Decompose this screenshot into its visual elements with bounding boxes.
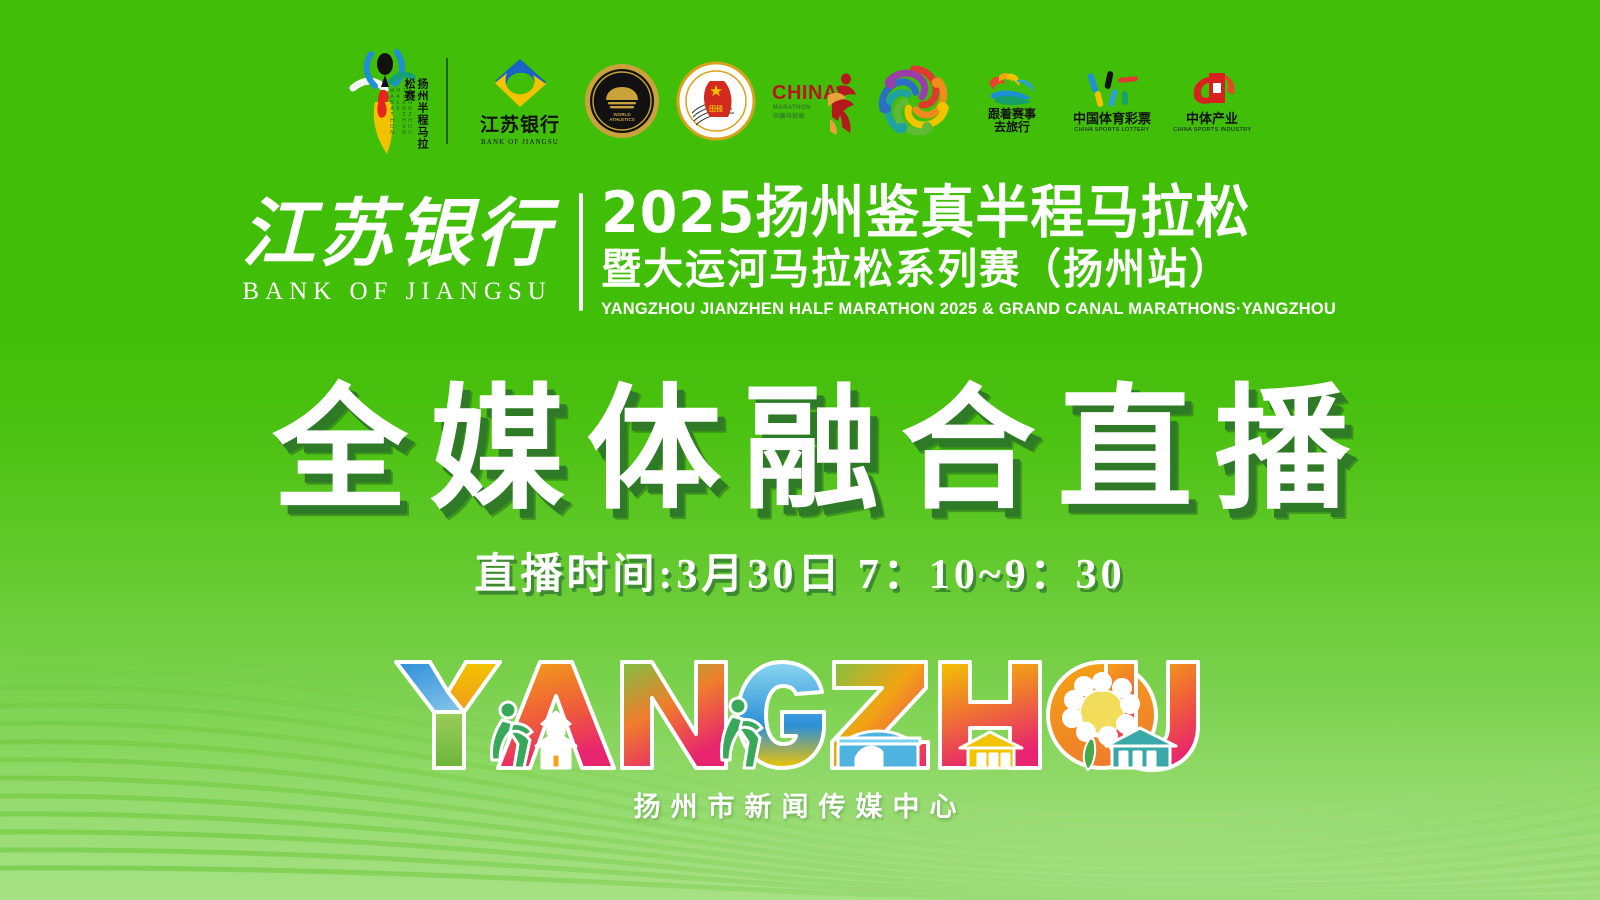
bank-title-en: BANK OF JIANGSU bbox=[242, 278, 551, 306]
livestream-poster: 扬州半程马拉松赛 YANGZHOU JIANZHEN HALF MARATHON… bbox=[0, 0, 1600, 900]
colorful-people-circle-logo bbox=[866, 61, 962, 141]
event-title-line1: 2025扬州鉴真半程马拉松 bbox=[601, 184, 1359, 244]
svg-text:田径: 田径 bbox=[709, 104, 723, 113]
lottery-cn: 中国体育彩票 bbox=[1073, 112, 1151, 126]
travel-with-events-logo: 跟着赛事 去旅行 bbox=[969, 68, 1055, 134]
broadcast-time-text: 直播时间:3月30日 7：10~9：30 bbox=[0, 540, 1600, 601]
svg-text:MARATHON: MARATHON bbox=[773, 105, 811, 111]
event-title-block: 2025扬州鉴真半程马拉松 暨大运河马拉松系列赛（扬州站） YANGZHOU J… bbox=[601, 185, 1359, 318]
china-sports-industry-logo: 中体产业 CHINA SPORTS INDUSTRY bbox=[1169, 69, 1255, 134]
bank-of-jiangsu-small-logo: 江苏银行 BANK OF JIANGSU bbox=[464, 45, 576, 157]
bank-of-jiangsu-title-logo: 江苏银行 BANK OF JIANGSU bbox=[241, 198, 579, 306]
event-logo-cn-text: 扬州半程马拉松赛 bbox=[414, 78, 428, 160]
industry-en: CHINA SPORTS INDUSTRY bbox=[1173, 127, 1251, 133]
svg-text:ATHLETICS: ATHLETICS bbox=[609, 117, 634, 122]
svg-text:中国马拉松: 中国马拉松 bbox=[773, 112, 805, 120]
bank-title-cn: 江苏银行 bbox=[241, 198, 553, 272]
bridge-motif bbox=[838, 731, 920, 768]
industry-cn: 中体产业 bbox=[1186, 112, 1238, 126]
yangzhou-city-wordmark bbox=[0, 640, 1600, 790]
lottery-en: CHINA SPORTS LOTTERY bbox=[1074, 127, 1149, 133]
sponsor-logo-strip: 扬州半程马拉松赛 YANGZHOU JIANZHEN HALF MARATHON… bbox=[0, 42, 1600, 160]
headline-text: 全媒体融合直播 bbox=[0, 384, 1600, 519]
chinese-athletics-association-logo: 田径 bbox=[668, 61, 764, 141]
main-title-row: 江苏银行 BANK OF JIANGSU 2025扬州鉴真半程马拉松 暨大运河马… bbox=[0, 182, 1600, 322]
world-athletics-gold-label-badge: WORLD ATHLETICS bbox=[576, 63, 668, 139]
svg-text:CHINA: CHINA bbox=[772, 82, 838, 104]
bank-diamond-icon bbox=[488, 56, 552, 114]
travel-events-line2: 去旅行 bbox=[994, 121, 1030, 134]
event-title-line2: 暨大运河马拉松系列赛（扬州站） bbox=[601, 246, 1359, 292]
logo-divider bbox=[446, 58, 448, 144]
event-logo-en-text: YANGZHOU JIANZHEN HALF MARATHON bbox=[389, 88, 413, 160]
event-title-english: YANGZHOU JIANZHEN HALF MARATHON 2025 & G… bbox=[601, 299, 1336, 319]
title-divider bbox=[579, 193, 583, 311]
china-marathon-logo: CHINA MARATHON 中国马拉松 bbox=[770, 63, 860, 139]
bank-small-cn: 江苏银行 bbox=[480, 116, 560, 135]
china-sports-lottery-logo: 中国体育彩票 CHINA SPORTS LOTTERY bbox=[1069, 69, 1155, 134]
bank-small-en: BANK OF JIANGSU bbox=[481, 138, 559, 146]
media-center-credit: 扬州市新闻传媒中心 bbox=[0, 785, 1600, 824]
yangzhou-half-marathon-logo: 扬州半程马拉松赛 YANGZHOU JIANZHEN HALF MARATHON bbox=[338, 42, 430, 160]
